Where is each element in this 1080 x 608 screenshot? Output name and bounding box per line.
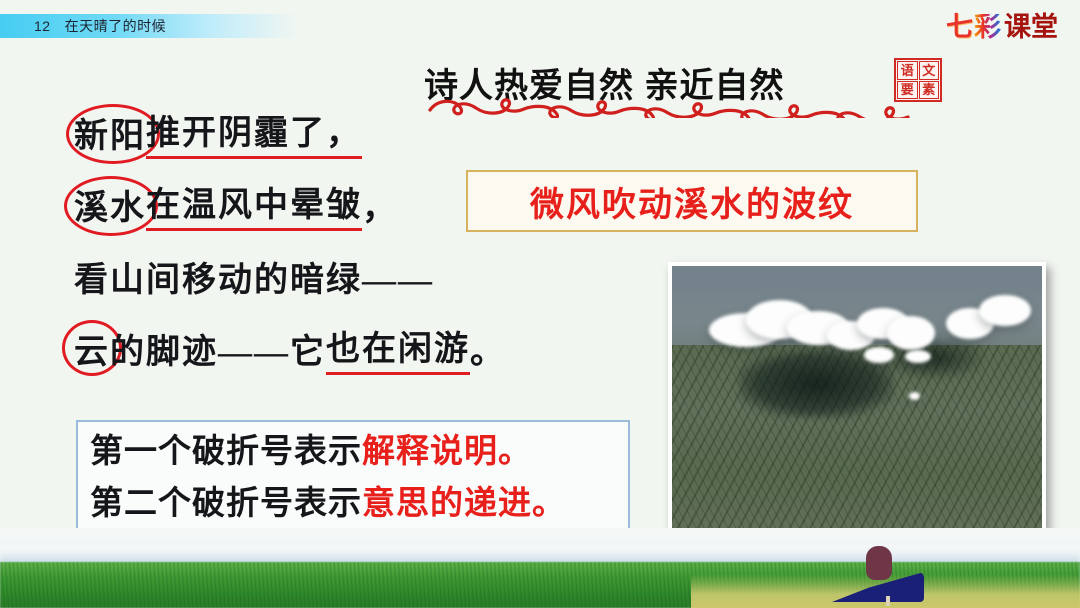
seal-char-1: 语 xyxy=(897,61,918,80)
seal-stamp: 语 文 要 素 xyxy=(894,58,942,102)
explanation-line-1-prefix: 第一个破折号表示 xyxy=(90,434,362,470)
logo-word-ketang: 课堂 xyxy=(1004,14,1058,41)
poem-line-3: 看山间移动的暗绿—— xyxy=(74,240,674,312)
explanation-box: 第一个破折号表示解释说明。 第二个破折号表示意思的递进。 xyxy=(76,420,630,532)
cloud-shape-9 xyxy=(864,347,894,363)
cloud-shape-10 xyxy=(905,350,931,363)
explanation-line-2: 第二个破折号表示意思的递进。 xyxy=(90,478,618,530)
poem-line-1-underlined: 推开阴霾了， xyxy=(146,105,362,159)
poem-line-4-underlined: 也在闲游 xyxy=(326,321,470,375)
cloud-shape-8 xyxy=(979,295,1031,326)
lesson-title: 在天晴了的时候 xyxy=(65,16,167,36)
poem-line-4: 云 的脚迹——它 也在闲游 。 xyxy=(74,312,674,384)
girl-figure-icon xyxy=(848,546,912,604)
cloud-shape-11 xyxy=(909,392,920,400)
logo-char-cai: 彩 xyxy=(973,14,1002,41)
photo-content xyxy=(672,266,1042,528)
poem-line-1: 新阳 推开阴霾了， xyxy=(74,96,674,168)
poem-line-3-text: 看山间移动的暗绿—— xyxy=(74,252,434,301)
poem-line-2-tail: ， xyxy=(362,180,398,229)
poem-line-4-tail: 。 xyxy=(470,324,506,373)
explanation-line-1: 第一个破折号表示解释说明。 xyxy=(90,426,618,478)
poem-line-2-underlined: 在温风中晕皱 xyxy=(146,177,362,231)
cloud-shape-6 xyxy=(887,316,935,350)
explanation-line-1-highlight: 解释说明。 xyxy=(362,434,532,470)
brand-logo: 七 彩 课堂 xyxy=(946,10,1058,44)
footer-decoration xyxy=(0,528,1080,608)
seal-char-4: 素 xyxy=(919,81,940,100)
seal-char-3: 要 xyxy=(897,81,918,100)
explanation-line-2-prefix: 第二个破折号表示 xyxy=(90,486,362,522)
figure-leg xyxy=(886,596,890,606)
poem-block: 新阳 推开阴霾了， 溪水 在温风中晕皱 ， 看山间移动的暗绿—— 云 的脚迹——… xyxy=(74,96,674,384)
logo-char-qi: 七 xyxy=(946,14,973,41)
figure-hair xyxy=(866,546,892,580)
header-breadcrumb: 12 在天晴了的时候 xyxy=(0,14,360,38)
callout-box: 微风吹动溪水的波纹 xyxy=(466,170,918,232)
poem-line-1-circled-word: 新阳 xyxy=(74,108,146,157)
poem-line-4-middle: 的脚迹——它 xyxy=(110,324,326,373)
callout-text: 微风吹动溪水的波纹 xyxy=(530,177,854,226)
poem-line-2-circled-word: 溪水 xyxy=(74,180,146,229)
lesson-number: 12 xyxy=(34,18,51,34)
mountain-cloud-photo xyxy=(668,262,1046,532)
slide-root: 12 在天晴了的时候 七 彩 课堂 诗人热爱自然 亲近自然 语 文 要 素 新阳… xyxy=(0,0,1080,608)
poem-line-4-circled-word: 云 xyxy=(74,324,110,373)
explanation-line-2-highlight: 意思的递进。 xyxy=(362,486,566,522)
seal-char-2: 文 xyxy=(919,61,940,80)
